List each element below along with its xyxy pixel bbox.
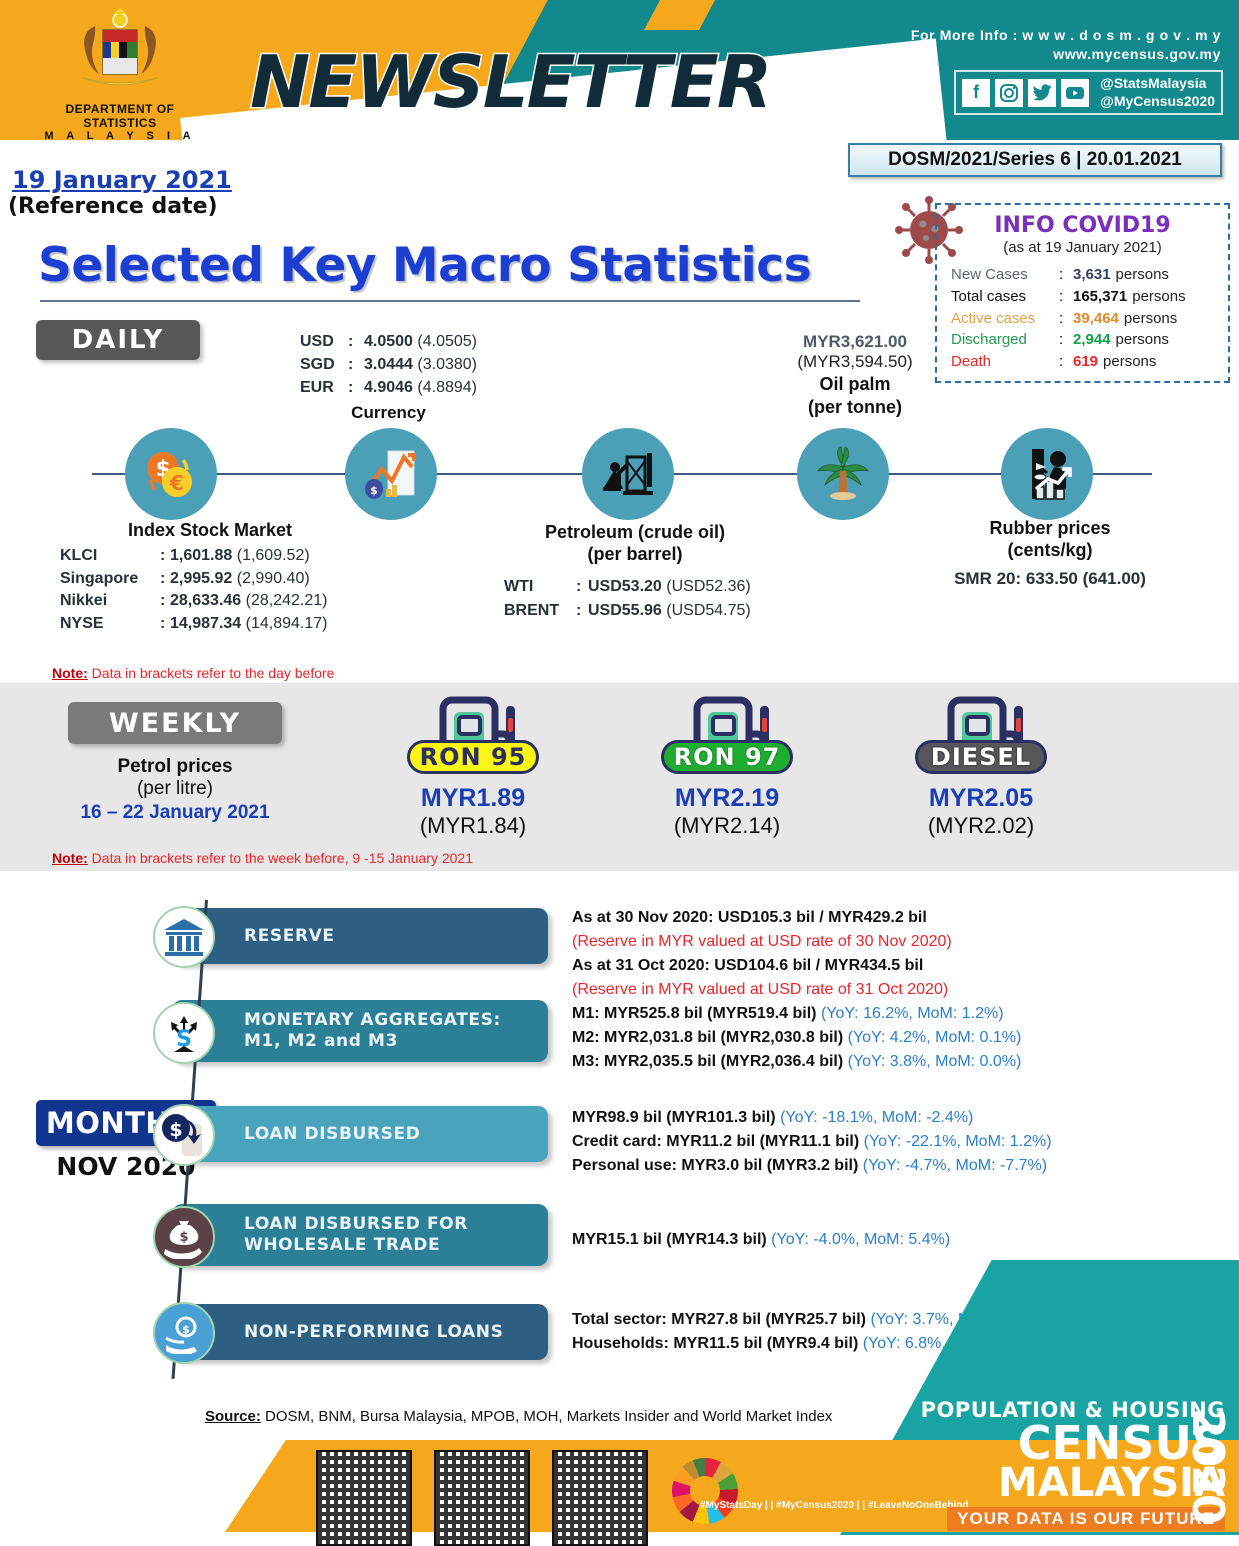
monthly-value-line: M1: MYR525.8 bil (MYR519.4 bil) (YoY: 16…: [572, 1002, 1132, 1026]
fuel-card-ron95: RON 95MYR1.89(MYR1.84): [358, 694, 588, 839]
covid-row-unit: persons: [1116, 329, 1169, 351]
daily-note-label: Note:: [52, 665, 88, 681]
daily-note-text: Data in brackets refer to the day before: [88, 665, 335, 681]
fuel-card-ron97: RON 97MYR2.19(MYR2.14): [612, 694, 842, 839]
weekly-note: Note: Data in brackets refer to the week…: [52, 850, 473, 866]
monthly-value-line: Personal use: MYR3.0 bil (MYR3.2 bil) (Y…: [572, 1154, 1132, 1178]
social-handles: @StatsMalaysia @MyCensus2020: [1100, 75, 1215, 110]
currency-value: 3.0444 (3.0380): [364, 353, 477, 376]
currency-block: USD:4.0500 (4.0505)SGD:3.0444 (3.0380)EU…: [300, 330, 477, 423]
dosm-logo: DEPARTMENT OF STATISTICS M A L A Y S I A: [30, 8, 210, 138]
covid-row-label: Total cases: [951, 286, 1059, 308]
covid-row-value: 3,631: [1073, 264, 1111, 286]
page-title: Selected Key Macro Statistics: [38, 238, 811, 293]
handle-secondary: @MyCensus2020: [1100, 93, 1215, 111]
index-stock-block: Index Stock Market KLCI:1,601.88 (1,609.…: [60, 520, 360, 636]
malaysia-coat-of-arms-icon: [65, 8, 175, 100]
monthly-value-line: M3: MYR2,035.5 bil (MYR2,036.4 bil) (YoY…: [572, 1050, 1132, 1074]
covid-row-label: New Cases: [951, 264, 1059, 286]
svg-text:$: $: [179, 1230, 188, 1245]
index-stock-caption: Index Stock Market: [60, 520, 360, 541]
index-colon: :: [160, 545, 170, 568]
oil-palm-block: MYR3,621.00 (MYR3,594.50) Oil palm (per …: [760, 332, 950, 417]
index-row: KLCI:1,601.88 (1,609.52): [60, 545, 360, 568]
oil-palm-value: MYR3,621.00: [760, 332, 950, 352]
petroleum-caption-1: Petroleum (crude oil): [470, 522, 800, 544]
currency-row: USD:4.0500 (4.0505): [300, 330, 477, 353]
index-row: Singapore:2,995.92 (2,990.40): [60, 568, 360, 591]
currency-colon: :: [348, 376, 364, 399]
currency-exchange-icon: $ €: [125, 428, 217, 520]
page-header: DEPARTMENT OF STATISTICS M A L A Y S I A…: [0, 0, 1239, 140]
monthly-row-label: LOAN DISBURSED FORWHOLESALE TRADE: [244, 1214, 468, 1255]
index-name: Nikkei: [60, 590, 160, 613]
monthly-row-bar[interactable]: LOAN DISBURSED FORWHOLESALE TRADE: [172, 1204, 548, 1266]
currency-colon: :: [348, 353, 364, 376]
weekly-note-text: Data in brackets refer to the week befor…: [88, 850, 473, 866]
petrol-label-line2: (per litre): [60, 778, 290, 800]
rubber-block: Rubber prices (cents/kg) SMR 20: 633.50 …: [920, 518, 1180, 589]
petroleum-row: WTI:USD53.20 (USD52.36): [504, 575, 800, 599]
covid-row: Death:619persons: [951, 351, 1228, 373]
reference-date: 19 January 2021: [12, 166, 232, 194]
monthly-row-bar[interactable]: RESERVE: [172, 908, 548, 964]
index-value: 28,633.46 (28,242.21): [170, 590, 327, 613]
petrol-label-period: 16 – 22 January 2021: [60, 802, 290, 824]
petroleum-colon: :: [576, 575, 588, 599]
covid-row-value: 165,371: [1073, 286, 1127, 308]
monthly-value-line: MYR98.9 bil (MYR101.3 bil) (YoY: -18.1%,…: [572, 1106, 1132, 1130]
currency-caption: Currency: [300, 403, 477, 423]
covid-row-unit: persons: [1103, 351, 1156, 373]
index-name: NYSE: [60, 613, 160, 636]
twitter-icon[interactable]: [1028, 79, 1056, 107]
daily-note: Note: Data in brackets refer to the day …: [52, 665, 334, 681]
census-line2: CENSUS: [905, 1422, 1225, 1464]
fuel-prev-price: (MYR2.02): [866, 813, 1096, 839]
covid-row-colon: :: [1059, 308, 1073, 330]
org-name: DEPARTMENT OF STATISTICS: [30, 102, 210, 130]
currency-code: EUR: [300, 376, 348, 399]
petroleum-value: USD53.20 (USD52.36): [588, 575, 751, 599]
covid-row-value: 2,944: [1073, 329, 1111, 351]
index-colon: :: [160, 568, 170, 591]
covid-stat-list: New Cases:3,631personsTotal cases:165,37…: [951, 264, 1228, 373]
covid-row: Active cases:39,464persons: [951, 308, 1228, 330]
oil-pump-icon: [582, 428, 674, 520]
more-info: For More Info : w w w . d o s m . g o v …: [911, 26, 1221, 64]
more-info-line2: www.mycensus.gov.my: [911, 45, 1221, 64]
covid-row: New Cases:3,631persons: [951, 264, 1228, 286]
loan-money-phone-icon: $: [153, 1104, 215, 1166]
index-row: NYSE:14,987.34 (14,894.17): [60, 613, 360, 636]
newsletter-title: NEWSLETTER: [250, 40, 770, 124]
fuel-prev-price: (MYR2.14): [612, 813, 842, 839]
currency-colon: :: [348, 330, 364, 353]
covid-row: Total cases:165,371persons: [951, 286, 1228, 308]
monthly-value-line: (Reserve in MYR valued at USD rate of 30…: [572, 930, 1132, 954]
social-links[interactable]: f @StatsMalaysia @MyCensus2020: [954, 70, 1223, 115]
monthly-row-label: NON-PERFORMING LOANS: [244, 1322, 503, 1343]
rubber-caption-1: Rubber prices: [920, 518, 1180, 540]
covid-row-unit: persons: [1124, 308, 1177, 330]
monthly-value-line: Credit card: MYR11.2 bil (MYR11.1 bil) (…: [572, 1130, 1132, 1154]
header-small-wedge: [644, 0, 731, 30]
petrol-prices-label: Petrol prices (per litre) 16 – 22 Januar…: [60, 756, 290, 824]
rubber-tapper-icon: [1001, 428, 1093, 520]
petroleum-caption-2: (per barrel): [470, 544, 800, 566]
index-colon: :: [160, 613, 170, 636]
coin-hand-icon: $: [153, 1302, 215, 1364]
petroleum-name: WTI: [504, 575, 576, 599]
covid-as-at: (as at 19 January 2021): [937, 239, 1228, 256]
monthly-row-label: LOAN DISBURSED: [244, 1124, 420, 1145]
fuel-pump-icon: RON 97: [612, 694, 842, 772]
rubber-caption-2: (cents/kg): [920, 540, 1180, 562]
currency-row: SGD:3.0444 (3.0380): [300, 353, 477, 376]
source-line: Source: DOSM, BNM, Bursa Malaysia, MPOB,…: [205, 1408, 832, 1425]
qr-dosm-icon[interactable]: [316, 1450, 412, 1546]
index-name: KLCI: [60, 545, 160, 568]
census-logo: POPULATION & HOUSING CENSUS MALAYSIA YOU…: [905, 1398, 1225, 1531]
index-value: 2,995.92 (2,990.40): [170, 568, 310, 591]
stock-chart-icon: $: [345, 428, 437, 520]
fuel-price: MYR2.19: [612, 784, 842, 813]
oil-palm-caption-1: Oil palm: [760, 374, 950, 395]
svg-text:$: $: [182, 1323, 190, 1336]
fuel-type-tag: RON 95: [407, 740, 539, 774]
covid-row-colon: :: [1059, 351, 1073, 373]
weekly-section-badge: WEEKLY: [68, 702, 282, 744]
covid-row-value: 39,464: [1073, 308, 1119, 330]
index-row: Nikkei:28,633.46 (28,242.21): [60, 590, 360, 613]
facebook-icon[interactable]: f: [962, 79, 990, 107]
index-value: 1,601.88 (1,609.52): [170, 545, 310, 568]
fuel-type-tag: RON 97: [661, 740, 793, 774]
census-line3: MALAYSIA: [905, 1464, 1225, 1502]
census-year: 2020: [1182, 1408, 1233, 1522]
reference-date-label: (Reference date): [8, 194, 218, 219]
currency-value: 4.0500 (4.0505): [364, 330, 477, 353]
fuel-card-diesel: DIESELMYR2.05(MYR2.02): [866, 694, 1096, 839]
fuel-price: MYR1.89: [358, 784, 588, 813]
covid-row-unit: persons: [1116, 264, 1169, 286]
rubber-value: SMR 20: 633.50 (641.00): [920, 569, 1180, 589]
covid-panel-title: INFO COVID19: [937, 213, 1228, 238]
covid-row-label: Active cases: [951, 308, 1059, 330]
index-value: 14,987.34 (14,894.17): [170, 613, 327, 636]
currency-code: USD: [300, 330, 348, 353]
weekly-note-label: Note:: [52, 850, 88, 866]
oil-palm-prev: (MYR3,594.50): [760, 352, 950, 372]
more-info-line1: For More Info : w w w . d o s m . g o v …: [911, 26, 1221, 45]
petroleum-colon: :: [576, 599, 588, 623]
oil-palm-caption-2: (per tonne): [760, 397, 950, 418]
svg-text:$: $: [370, 484, 378, 497]
fuel-pump-icon: DIESEL: [866, 694, 1096, 772]
petroleum-block: Petroleum (crude oil) (per barrel) WTI:U…: [470, 522, 800, 623]
bank-building-icon: [153, 906, 215, 968]
monthly-row-values: As at 30 Nov 2020: USD105.3 bil / MYR429…: [572, 906, 1132, 1002]
petroleum-row: BRENT:USD55.96 (USD54.75): [504, 599, 800, 623]
palm-tree-icon: [797, 428, 889, 520]
covid-info-panel: INFO COVID19 (as at 19 January 2021) New…: [935, 203, 1230, 383]
daily-section-badge: DAILY: [36, 320, 200, 360]
covid-row-colon: :: [1059, 286, 1073, 308]
covid-row-unit: persons: [1132, 286, 1185, 308]
covid-row-colon: :: [1059, 329, 1073, 351]
source-label: Source:: [205, 1408, 261, 1425]
covid-row-label: Discharged: [951, 329, 1059, 351]
monthly-row-values: M1: MYR525.8 bil (MYR519.4 bil) (YoY: 16…: [572, 1002, 1132, 1074]
title-divider: [40, 300, 860, 302]
org-country: M A L A Y S I A: [30, 130, 210, 140]
currency-row: EUR:4.9046 (4.8894): [300, 376, 477, 399]
svg-text:€: €: [169, 471, 184, 495]
monthly-value-line: (Reserve in MYR valued at USD rate of 31…: [572, 978, 1132, 1002]
fuel-pump-icon: RON 95: [358, 694, 588, 772]
index-name: Singapore: [60, 568, 160, 591]
covid-row-colon: :: [1059, 264, 1073, 286]
petroleum-value: USD55.96 (USD54.75): [588, 599, 751, 623]
sdg-wheel-icon: [672, 1458, 738, 1524]
monthly-row-bar[interactable]: MONETARY AGGREGATES:M1, M2 and M3: [172, 1000, 548, 1062]
instagram-icon[interactable]: [995, 79, 1023, 107]
series-badge: DOSM/2021/Series 6 | 20.01.2021: [848, 143, 1222, 177]
handle-primary: @StatsMalaysia: [1100, 75, 1215, 93]
qr-facebook-icon[interactable]: [434, 1450, 530, 1546]
currency-code: SGD: [300, 353, 348, 376]
fuel-prev-price: (MYR1.84): [358, 813, 588, 839]
youtube-icon[interactable]: [1061, 79, 1089, 107]
fuel-type-tag: DIESEL: [915, 740, 1047, 774]
covid-row: Discharged:2,944persons: [951, 329, 1228, 351]
petrol-label-line1: Petrol prices: [60, 756, 290, 778]
monthly-row-label: MONETARY AGGREGATES:M1, M2 and M3: [244, 1010, 501, 1051]
money-bag-hand-icon: $: [153, 1206, 215, 1268]
monthly-value-line: M2: MYR2,031.8 bil (MYR2,030.8 bil) (YoY…: [572, 1026, 1132, 1050]
covid-row-label: Death: [951, 351, 1059, 373]
monthly-row-bar[interactable]: NON-PERFORMING LOANS: [172, 1304, 548, 1360]
money-supply-icon: S: [153, 1002, 215, 1064]
fuel-price: MYR2.05: [866, 784, 1096, 813]
monthly-value-line: MYR15.1 bil (MYR14.3 bil) (YoY: -4.0%, M…: [572, 1228, 1132, 1252]
monthly-row-label: RESERVE: [244, 926, 335, 947]
svg-text:$: $: [169, 1119, 182, 1141]
source-text: DOSM, BNM, Bursa Malaysia, MPOB, MOH, Ma…: [261, 1408, 833, 1425]
monthly-row-values: MYR15.1 bil (MYR14.3 bil) (YoY: -4.0%, M…: [572, 1228, 1132, 1252]
petroleum-name: BRENT: [504, 599, 576, 623]
qr-mycensus-icon[interactable]: [552, 1450, 648, 1546]
monthly-value-line: As at 30 Nov 2020: USD105.3 bil / MYR429…: [572, 906, 1132, 930]
currency-value: 4.9046 (4.8894): [364, 376, 477, 399]
index-colon: :: [160, 590, 170, 613]
monthly-value-line: As at 31 Oct 2020: USD104.6 bil / MYR434…: [572, 954, 1132, 978]
monthly-row-bar[interactable]: LOAN DISBURSED: [172, 1106, 548, 1162]
monthly-row-values: MYR98.9 bil (MYR101.3 bil) (YoY: -18.1%,…: [572, 1106, 1132, 1178]
covid-row-value: 619: [1073, 351, 1098, 373]
